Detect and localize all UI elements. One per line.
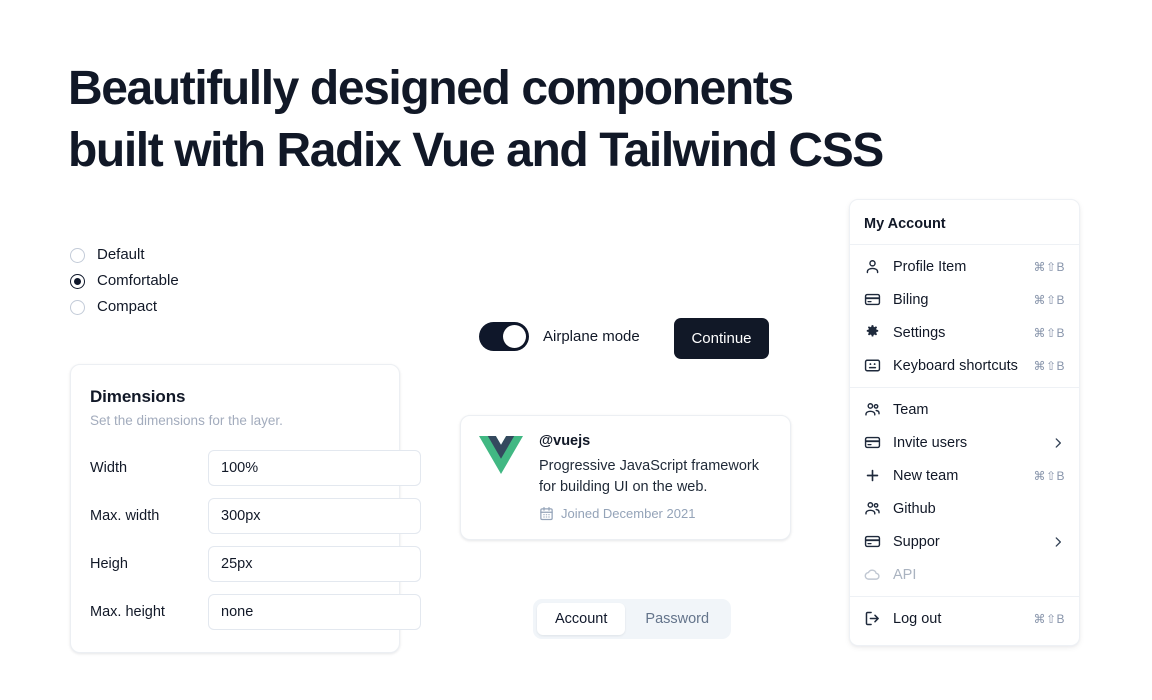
menu-item-log-out[interactable]: Log out⌘⇧B bbox=[850, 602, 1079, 635]
menu-item-github[interactable]: Github bbox=[850, 492, 1079, 525]
radio-label: Comfortable bbox=[97, 272, 179, 290]
dimension-field-row: Width bbox=[90, 450, 379, 486]
radio-label: Compact bbox=[97, 298, 157, 316]
airplane-mode-label: Airplane mode bbox=[543, 328, 640, 345]
hero-section: Beautifully designed components built wi… bbox=[68, 58, 1028, 182]
density-radio-group: DefaultComfortableCompact bbox=[70, 246, 179, 316]
credit-card-icon bbox=[864, 533, 881, 550]
dimension-field-label: Max. width bbox=[90, 508, 208, 524]
credit-card-icon bbox=[864, 434, 881, 451]
menu-groups: Profile Item⌘⇧BBiling⌘⇧BSettings⌘⇧BKeybo… bbox=[850, 244, 1079, 640]
menu-item-label: Settings bbox=[893, 325, 1021, 341]
menu-item-shortcut: ⌘⇧B bbox=[1033, 293, 1065, 307]
credit-card-icon bbox=[864, 291, 881, 308]
radio-option-comfortable[interactable]: Comfortable bbox=[70, 272, 179, 290]
menu-item-shortcut: ⌘⇧B bbox=[1033, 359, 1065, 373]
log-out-icon bbox=[864, 610, 881, 627]
dimensions-card-title: Dimensions bbox=[90, 387, 379, 407]
menu-item-label: API bbox=[893, 567, 1065, 583]
radio-label: Default bbox=[97, 246, 145, 264]
menu-item-label: Team bbox=[893, 402, 1065, 418]
menu-item-shortcut: ⌘⇧B bbox=[1033, 612, 1065, 626]
menu-item-settings[interactable]: Settings⌘⇧B bbox=[850, 316, 1079, 349]
dimension-field-row: Max. height bbox=[90, 594, 379, 630]
menu-item-api: API bbox=[850, 558, 1079, 591]
keyboard-icon bbox=[864, 357, 881, 374]
menu-item-label: Biling bbox=[893, 292, 1021, 308]
menu-item-shortcut: ⌘⇧B bbox=[1033, 326, 1065, 340]
menu-item-shortcut: ⌘⇧B bbox=[1033, 260, 1065, 274]
airplane-mode-switch[interactable] bbox=[479, 322, 529, 351]
dimensions-fields: WidthMax. widthHeighMax. height bbox=[90, 450, 379, 630]
user-icon bbox=[864, 258, 881, 275]
calendar-icon bbox=[539, 506, 554, 521]
dimension-field-input[interactable] bbox=[208, 450, 421, 486]
menu-item-label: Suppor bbox=[893, 534, 1039, 550]
menu-item-keyboard-shortcuts[interactable]: Keyboard shortcuts⌘⇧B bbox=[850, 349, 1079, 382]
menu-item-label: Keyboard shortcuts bbox=[893, 358, 1021, 374]
radio-indicator[interactable] bbox=[70, 274, 85, 289]
dimension-field-label: Width bbox=[90, 460, 208, 476]
menu-group: TeamInvite usersNew team⌘⇧BGithubSupporA… bbox=[850, 388, 1079, 596]
vuejs-hover-card: @vuejs Progressive JavaScript framework … bbox=[460, 415, 791, 540]
menu-group: Log out⌘⇧B bbox=[850, 597, 1079, 640]
radio-option-default[interactable]: Default bbox=[70, 246, 179, 264]
menu-item-label: New team bbox=[893, 468, 1021, 484]
radio-indicator[interactable] bbox=[70, 248, 85, 263]
hover-card-handle: @vuejs bbox=[539, 433, 772, 449]
hover-card-body: @vuejs Progressive JavaScript framework … bbox=[539, 433, 772, 521]
hover-card-description: Progressive JavaScript framework for bui… bbox=[539, 456, 772, 498]
gear-icon bbox=[864, 324, 881, 341]
menu-group: Profile Item⌘⇧BBiling⌘⇧BSettings⌘⇧BKeybo… bbox=[850, 245, 1079, 387]
menu-item-label: Log out bbox=[893, 611, 1021, 627]
switch-knob bbox=[503, 325, 526, 348]
page-title: Beautifully designed components built wi… bbox=[68, 58, 1028, 182]
continue-button[interactable]: Continue bbox=[674, 318, 769, 359]
dimension-field-input[interactable] bbox=[208, 498, 421, 534]
chevron-right-icon bbox=[1051, 436, 1065, 450]
vuejs-logo-icon bbox=[479, 435, 523, 475]
menu-item-shortcut: ⌘⇧B bbox=[1033, 469, 1065, 483]
radio-indicator[interactable] bbox=[70, 300, 85, 315]
chevron-right-icon bbox=[1051, 535, 1065, 549]
menu-header: My Account bbox=[850, 205, 1079, 244]
tab-password[interactable]: Password bbox=[627, 603, 727, 635]
menu-item-profile-item[interactable]: Profile Item⌘⇧B bbox=[850, 250, 1079, 283]
menu-item-team[interactable]: Team bbox=[850, 393, 1079, 426]
airplane-mode-row: Airplane mode bbox=[479, 322, 640, 351]
dimension-field-label: Max. height bbox=[90, 604, 208, 620]
dimension-field-label: Heigh bbox=[90, 556, 208, 572]
menu-item-suppor[interactable]: Suppor bbox=[850, 525, 1079, 558]
dimension-field-row: Max. width bbox=[90, 498, 379, 534]
dimension-field-input[interactable] bbox=[208, 546, 421, 582]
menu-item-invite-users[interactable]: Invite users bbox=[850, 426, 1079, 459]
settings-tabs: AccountPassword bbox=[533, 599, 731, 639]
tab-account[interactable]: Account bbox=[537, 603, 625, 635]
menu-item-label: Github bbox=[893, 501, 1065, 517]
menu-item-label: Invite users bbox=[893, 435, 1039, 451]
cloud-icon bbox=[864, 566, 881, 583]
menu-item-biling[interactable]: Biling⌘⇧B bbox=[850, 283, 1079, 316]
dimensions-card-description: Set the dimensions for the layer. bbox=[90, 413, 379, 428]
menu-item-new-team[interactable]: New team⌘⇧B bbox=[850, 459, 1079, 492]
users-icon bbox=[864, 500, 881, 517]
radio-option-compact[interactable]: Compact bbox=[70, 298, 179, 316]
dimension-field-input[interactable] bbox=[208, 594, 421, 630]
hover-card-joined: Joined December 2021 bbox=[539, 506, 772, 521]
users-icon bbox=[864, 401, 881, 418]
dimensions-card: Dimensions Set the dimensions for the la… bbox=[70, 364, 400, 653]
account-dropdown-menu: My Account Profile Item⌘⇧BBiling⌘⇧BSetti… bbox=[849, 199, 1080, 646]
menu-item-label: Profile Item bbox=[893, 259, 1021, 275]
hover-card-joined-text: Joined December 2021 bbox=[561, 506, 695, 521]
plus-icon bbox=[864, 467, 881, 484]
dimension-field-row: Heigh bbox=[90, 546, 379, 582]
